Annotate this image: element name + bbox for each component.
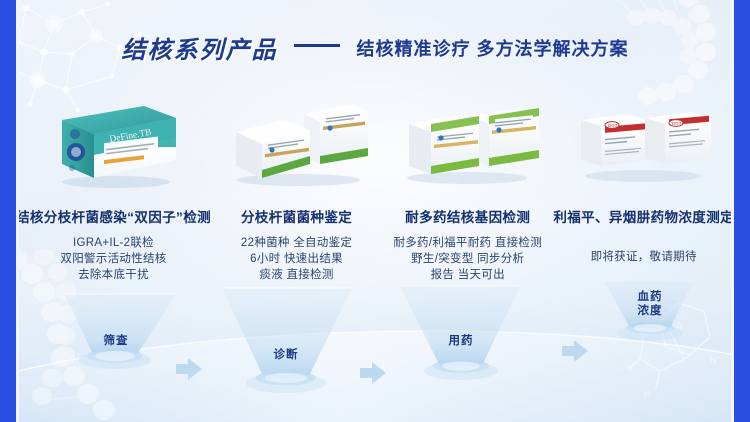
- poster-canvas: NH NH NN 结核系列产品 结核精准诊疗 多方法学解决方案: [0, 0, 750, 422]
- product-line: 痰液 直接检测: [241, 267, 352, 283]
- left-rail-highlight: [16, 0, 19, 422]
- poster-header: 结核系列产品 结核精准诊疗 多方法学解决方案: [0, 30, 750, 65]
- product-line: 22种菌种 全自动鉴定: [241, 235, 352, 251]
- funnel-medication: [400, 286, 520, 380]
- pipeline-label-screening: 筛查: [86, 334, 146, 348]
- product-line: 6小时 快速出结果: [241, 251, 352, 267]
- product-column-define-tb[interactable]: DeFine.TB 结核分枝杆菌感染“双因子”检测 IGRA+IL-2联检 双阳…: [16, 96, 211, 286]
- pipeline-label-medication: 用药: [431, 334, 491, 348]
- product-line: 报告 当天可出: [393, 267, 542, 283]
- product-column-mdr-gene[interactable]: 耐多药结核基因检测 耐多药/利福平耐药 直接检测 野生/突变型 同步分析 报告 …: [382, 96, 553, 286]
- product-note-drug-conc: 即将获证，敬请期待: [591, 248, 697, 264]
- pipeline-label-blood-conc-line1: 血药: [638, 291, 663, 303]
- workflow-pipeline: 筛查 诊断 用药 血药 浓度: [0, 282, 750, 422]
- product-title-species-id: 分枝杆菌菌种鉴定: [241, 206, 352, 226]
- pipeline-label-blood-conc-line2: 浓度: [638, 305, 663, 317]
- pipeline-label-blood-conc: 血药 浓度: [620, 290, 680, 318]
- product-lines-define-tb: IGRA+IL-2联检 双阳警示活动性结核 去除本底干扰: [60, 235, 166, 283]
- right-rail-highlight: [731, 0, 734, 422]
- product-lines-mdr-gene: 耐多药/利福平耐药 直接检测 野生/突变型 同步分析 报告 当天可出: [393, 235, 542, 283]
- right-blue-rail: [734, 0, 750, 422]
- product-title-mdr-gene: 耐多药结核基因检测: [405, 206, 530, 226]
- left-blue-rail: [0, 0, 16, 422]
- arrow-1: [176, 358, 202, 380]
- title-divider: [294, 44, 340, 47]
- product-image-drug-conc: DGT DGT: [569, 96, 719, 192]
- product-line: 去除本底干扰: [60, 267, 166, 283]
- product-image-species-id: [222, 96, 372, 192]
- page-subtitle: 结核精准诊疗 多方法学解决方案: [356, 35, 628, 61]
- product-column-drug-conc[interactable]: DGT DGT 利福平、异烟肼药物浓度测定: [553, 96, 734, 286]
- product-line: 耐多药/利福平耐药 直接检测: [393, 235, 542, 251]
- product-line: 双阳警示活动性结核: [60, 251, 166, 267]
- pipeline-label-diagnosis: 诊断: [256, 348, 316, 362]
- product-line: IGRA+IL-2联检: [60, 235, 166, 251]
- product-lines-species-id: 22种菌种 全自动鉴定 6小时 快速出结果 痰液 直接检测: [241, 235, 352, 283]
- product-row: DeFine.TB 结核分枝杆菌感染“双因子”检测 IGRA+IL-2联检 双阳…: [16, 96, 734, 286]
- arrow-3: [562, 340, 588, 362]
- product-image-mdr-gene: [393, 96, 543, 192]
- product-column-species-id[interactable]: 分枝杆菌菌种鉴定 22种菌种 全自动鉴定 6小时 快速出结果 痰液 直接检测: [211, 96, 382, 286]
- svg-text:DGT: DGT: [672, 121, 682, 126]
- product-title-define-tb: 结核分枝杆菌感染“双因子”检测: [16, 206, 211, 226]
- funnel-screening: [64, 294, 176, 369]
- arrow-2: [360, 362, 386, 384]
- page-title: 结核系列产品: [122, 30, 278, 65]
- funnel-diagnosis: [222, 288, 352, 393]
- product-title-drug-conc: 利福平、异烟肼药物浓度测定: [553, 206, 734, 226]
- svg-text:DGT: DGT: [608, 123, 618, 128]
- product-line: 野生/突变型 同步分析: [393, 251, 542, 267]
- product-image-define-tb: DeFine.TB: [48, 96, 180, 192]
